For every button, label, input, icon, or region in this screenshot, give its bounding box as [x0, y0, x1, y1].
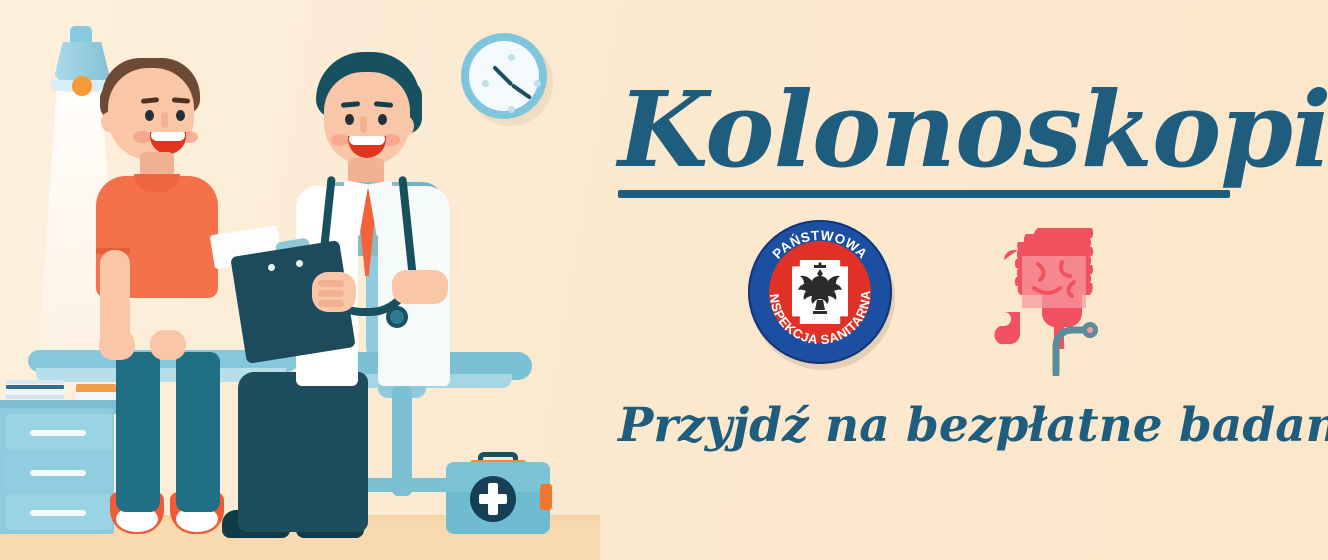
doctor-legs — [238, 372, 368, 532]
kolonoskopia-banner: Kolonoskopia — [0, 0, 1328, 560]
panstwowa-inspekcja-sanitarna-logo: PAŃSTWOWA INSPEKCJA SANITARNA — [748, 220, 898, 370]
patient-cheek — [133, 131, 151, 143]
patient-eye — [176, 110, 185, 121]
shoe-stripe — [182, 514, 212, 517]
first-aid-cross-horizontal — [479, 494, 507, 504]
emblem-top-text: PAŃSTWOWA — [770, 228, 871, 262]
patient-nose — [161, 112, 168, 128]
doctor-finger — [318, 290, 344, 297]
patient-hand — [99, 330, 135, 360]
clock-hour-hand — [511, 83, 532, 99]
patient-leg — [176, 352, 220, 512]
lamp-bulb — [72, 76, 92, 96]
patient-teeth — [151, 132, 185, 141]
banner-content: Kolonoskopia — [600, 0, 1328, 560]
drawer-handle — [30, 510, 86, 516]
first-aid-kit-latch — [540, 484, 552, 510]
clock-minute-hand — [492, 65, 513, 86]
tagline: Przyjdź na bezpłatne badanie! — [618, 398, 1278, 453]
paper-stack-sheet — [6, 390, 64, 394]
patient-leg — [116, 352, 160, 512]
polish-eagle-icon — [798, 262, 842, 314]
title-underline — [618, 190, 1230, 198]
patient-eye — [145, 110, 154, 121]
clock-face — [469, 41, 539, 111]
clock-marker-9 — [482, 80, 489, 87]
emblem-eagle-and-text: PAŃSTWOWA INSPEKCJA SANITARNA — [748, 220, 892, 364]
supply-box-lid — [76, 384, 116, 392]
drawer-handle — [30, 470, 86, 476]
clinic-illustration — [0, 0, 600, 560]
stethoscope-chestpiece — [386, 306, 408, 328]
doctor-finger — [318, 300, 344, 307]
badge-row: PAŃSTWOWA INSPEKCJA SANITARNA — [600, 212, 1300, 384]
endoscope-icon — [1056, 330, 1086, 374]
clock-marker-6 — [508, 106, 515, 113]
doctor-finger — [318, 280, 344, 287]
doctor-nose — [360, 116, 367, 133]
intestine-icon — [978, 216, 1106, 376]
shoe-stripe — [122, 514, 152, 517]
doctor-teeth — [349, 136, 385, 145]
drawer-handle — [30, 430, 86, 436]
doctor-eye — [345, 114, 354, 125]
endoscope-lens — [1087, 327, 1093, 333]
paper-stack-sheet — [6, 380, 64, 384]
paper-stack-sheet — [6, 385, 64, 389]
doctor-cheek — [331, 134, 349, 146]
doctor-eye — [378, 114, 387, 125]
clock-marker-12 — [508, 54, 515, 61]
doctor-arm — [392, 270, 448, 304]
page-title: Kolonoskopia — [618, 78, 1278, 182]
patient-hand — [150, 330, 186, 360]
paper-stack-sheet — [6, 395, 64, 399]
intestine-inner-shading — [1022, 256, 1086, 308]
clock-marker-3 — [534, 80, 541, 87]
wall-clock-icon — [461, 33, 547, 119]
